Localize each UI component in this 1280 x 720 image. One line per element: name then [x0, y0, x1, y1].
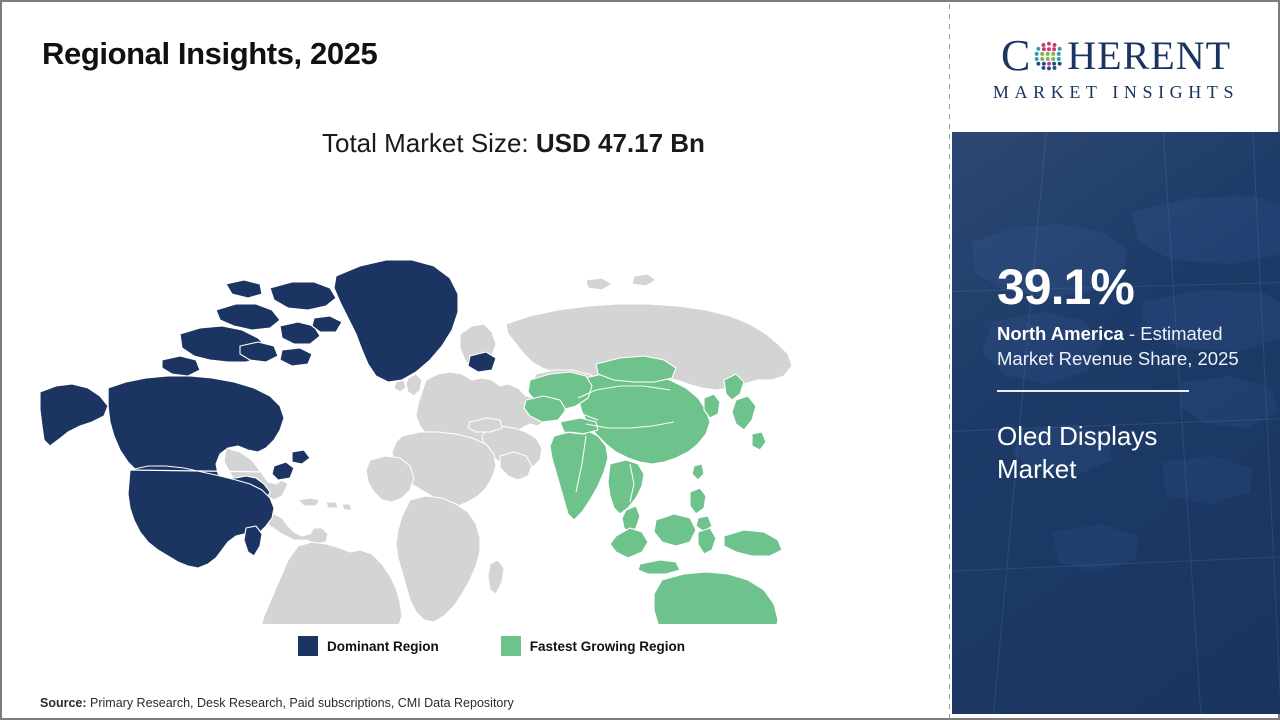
infographic-frame: Regional Insights, 2025 Total Market Siz…	[0, 0, 1280, 720]
stat-panel: 39.1% North America - Estimated Market R…	[952, 132, 1280, 714]
green-swatch-icon	[501, 636, 521, 656]
logo-wordmark: C	[1001, 34, 1231, 78]
vertical-dashed-divider	[949, 4, 950, 720]
legend-item-dominant: Dominant Region	[298, 636, 439, 656]
market-name: Oled Displays Market	[997, 420, 1212, 487]
logo-letter-c: C	[1001, 34, 1031, 78]
source-note: Source: Primary Research, Desk Research,…	[40, 696, 514, 710]
legend-label-fastest: Fastest Growing Region	[530, 639, 685, 654]
stat-caption: North America - Estimated Market Revenue…	[997, 322, 1256, 371]
logo-tagline: MARKET INSIGHTS	[993, 82, 1239, 103]
source-label: Source:	[40, 696, 87, 710]
navy-swatch-icon	[298, 636, 318, 656]
dotted-globe-icon	[1032, 39, 1066, 73]
market-size-label: Total Market Size:	[322, 128, 536, 158]
fastest-growing-region-asia-pacific	[524, 356, 818, 624]
legend-item-fastest: Fastest Growing Region	[501, 636, 685, 656]
total-market-size: Total Market Size: USD 47.17 Bn	[322, 128, 705, 159]
page-title: Regional Insights, 2025	[42, 36, 377, 72]
panel-content: 39.1% North America - Estimated Market R…	[997, 262, 1256, 486]
stat-value: 39.1%	[997, 262, 1256, 313]
stat-caption-region: North America	[997, 323, 1124, 344]
map-legend: Dominant Region Fastest Growing Region	[298, 636, 685, 656]
world-map	[30, 184, 840, 624]
company-logo: C	[964, 16, 1268, 120]
source-text: Primary Research, Desk Research, Paid su…	[87, 696, 514, 710]
panel-horizontal-rule	[997, 390, 1189, 392]
legend-label-dominant: Dominant Region	[327, 639, 439, 654]
logo-wordmark-rest: HERENT	[1067, 36, 1231, 76]
market-size-value: USD 47.17 Bn	[536, 128, 705, 158]
